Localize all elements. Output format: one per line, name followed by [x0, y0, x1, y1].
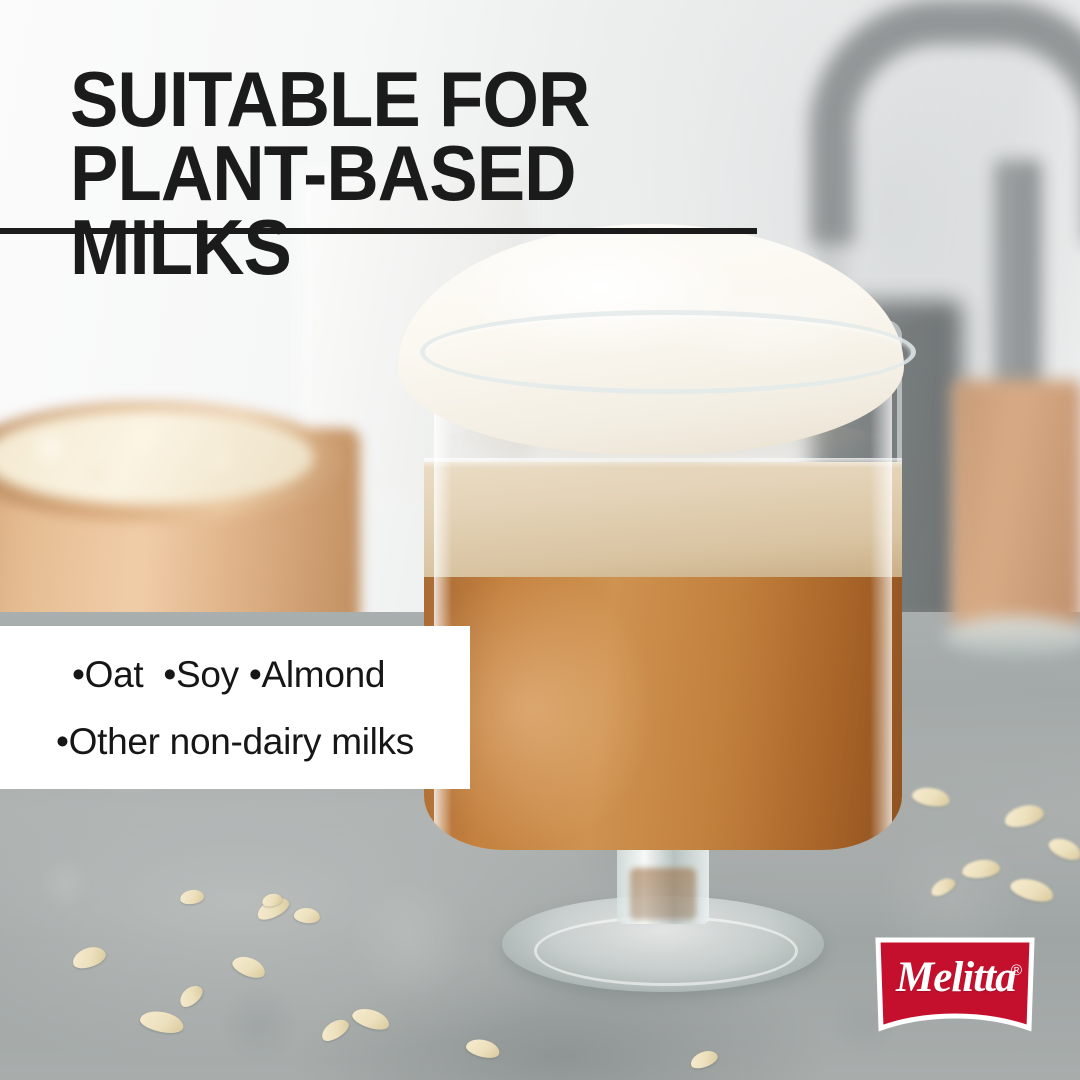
melitta-logo: Melitta ® [874, 936, 1036, 1038]
page-title: SUITABLE FOR PLANT-BASED MILKS [70, 62, 777, 284]
latte-glass [412, 276, 918, 996]
glass-foot-ring [534, 916, 798, 986]
second-glass-blurred [952, 380, 1080, 640]
glass-wall-right-highlight [870, 380, 892, 850]
coffee-layer [424, 568, 902, 850]
crema-layer [424, 462, 902, 577]
milk-types-callout: •Oat •Soy •Almond •Other non-dairy milks [0, 626, 470, 789]
oat-bowl [0, 388, 360, 638]
milk-types-line-1: •Oat •Soy •Almond [72, 654, 385, 696]
milk-types-line-2: •Other non-dairy milks [56, 721, 414, 763]
title-divider [0, 228, 757, 234]
registered-trademark-icon: ® [1011, 962, 1022, 979]
glass-rim [420, 310, 916, 394]
melitta-wordmark: Melitta [896, 956, 1014, 1000]
second-glass-liquid [952, 380, 1080, 640]
poster-canvas: SUITABLE FOR PLANT-BASED MILKS •Oat •Soy… [0, 0, 1080, 1080]
second-glass-base [944, 616, 1080, 656]
glass-stem-reflection [630, 868, 696, 920]
